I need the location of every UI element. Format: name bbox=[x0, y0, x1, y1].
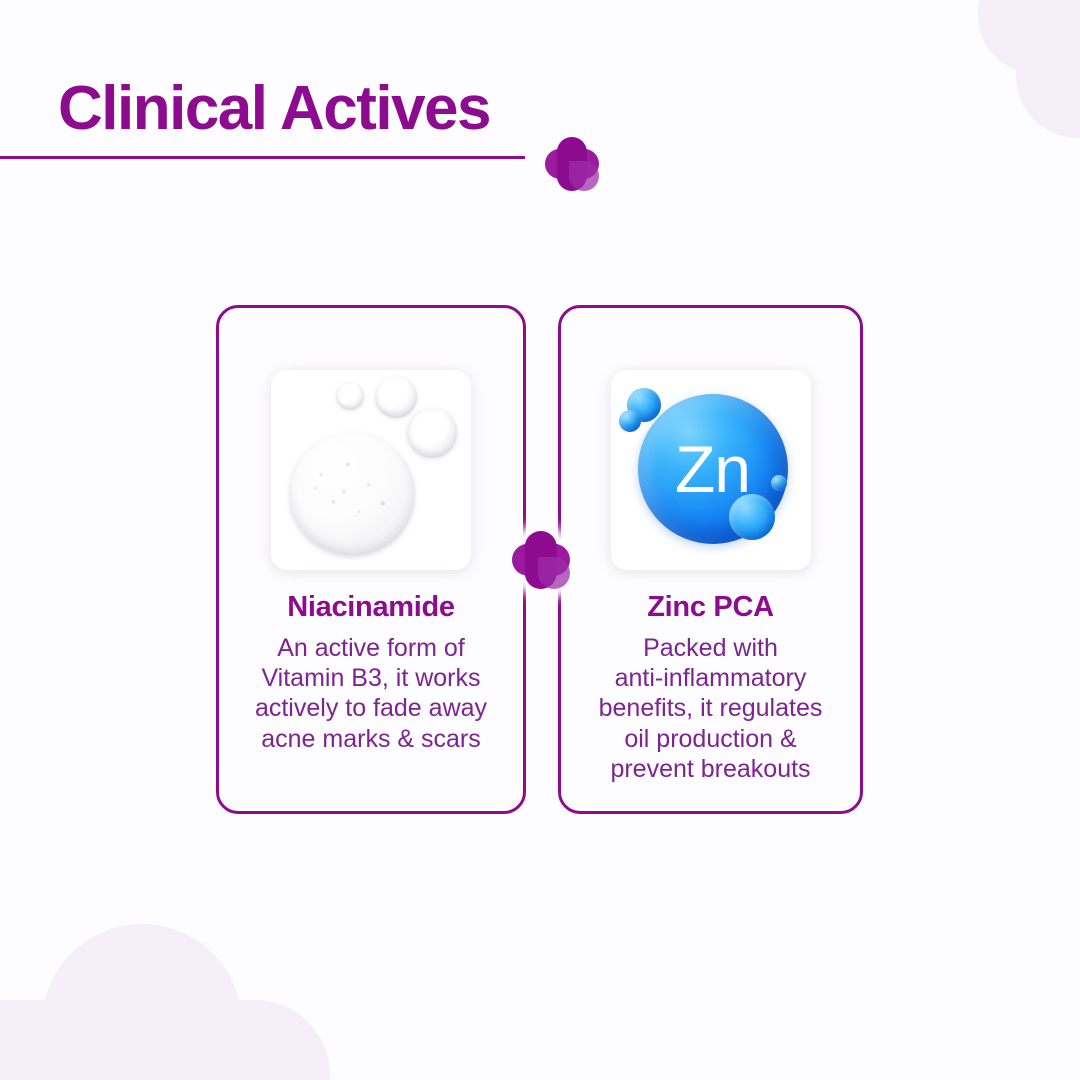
card-zinc-pca[interactable]: Zn Zinc PCA Packed with anti-inflammator… bbox=[558, 305, 863, 814]
decorative-cloud-top-right-a bbox=[978, 0, 1080, 74]
page-title: Clinical Actives bbox=[58, 78, 490, 140]
decorative-cloud-bottom-left-d bbox=[0, 1040, 300, 1080]
gel-bubble-medium-icon bbox=[375, 376, 417, 418]
card-description-zinc-pca: Packed with anti-inflammatory benefits, … bbox=[589, 633, 833, 784]
zinc-bubble-lower-large-icon bbox=[729, 494, 775, 540]
clinical-actives-infographic: Clinical Actives Niacinamide An active f… bbox=[0, 0, 1080, 1080]
card-title-niacinamide: Niacinamide bbox=[287, 592, 455, 624]
title-underline-rule bbox=[0, 156, 525, 159]
gel-bubble-small-icon bbox=[336, 382, 364, 410]
decorative-cloud-bottom-left-a bbox=[42, 924, 242, 1080]
card-niacinamide[interactable]: Niacinamide An active form of Vitamin B3… bbox=[216, 305, 526, 814]
serum-gel-droplet-image bbox=[271, 370, 471, 570]
decorative-cloud-top-right-b bbox=[1016, 14, 1080, 138]
zinc-bubble-lower-small-icon bbox=[771, 475, 787, 491]
zinc-molecule-sphere-image: Zn bbox=[611, 370, 811, 570]
plus-accent-quadrant bbox=[569, 161, 599, 191]
decorative-cloud-bottom-left-c bbox=[180, 1000, 330, 1080]
plus-horizontal-bar bbox=[545, 149, 599, 179]
plus-cross-icon-header bbox=[545, 137, 599, 191]
gel-blob-icon bbox=[289, 432, 415, 556]
plus-vertical-bar bbox=[525, 531, 557, 589]
card-description-niacinamide: An active form of Vitamin B3, it works a… bbox=[245, 633, 497, 754]
plus-vertical-bar bbox=[557, 137, 587, 191]
decorative-cloud-bottom-left-b bbox=[0, 1000, 120, 1080]
gel-bubble-large-icon bbox=[407, 408, 457, 458]
card-title-zinc-pca: Zinc PCA bbox=[647, 592, 774, 624]
decorative-cloud-top-right-c bbox=[1020, 0, 1080, 110]
